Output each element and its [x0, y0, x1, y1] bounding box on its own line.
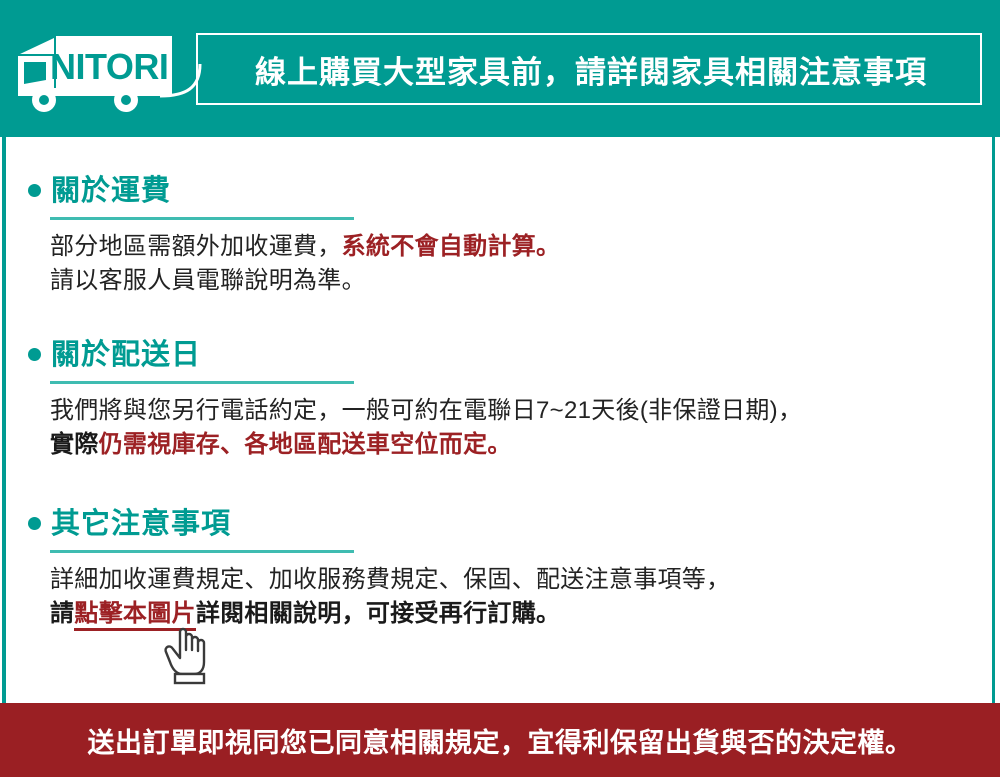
- section-body: 詳細加收運費規定、加收服務費規定、保固、配送注意事項等， 請點擊本圖片詳閱相關說…: [50, 563, 730, 631]
- body-text-bold: 實際: [50, 431, 99, 458]
- section-title: 關於配送日: [51, 331, 201, 373]
- body-line: 請點擊本圖片詳閱相關說明，可接受再行訂購。: [50, 597, 730, 631]
- body-text: 詳細加收運費規定、加收服務費規定、保固、配送注意事項等，: [50, 566, 730, 593]
- heading-underline: [50, 550, 354, 553]
- page-title: 線上購買大型家具前，請詳閱家具相關注意事項: [198, 35, 984, 103]
- section-heading: 關於配送日: [28, 331, 802, 373]
- footer-notice: 送出訂單即視同您已同意相關規定，宜得利保留出貨與否的決定權。: [88, 721, 913, 760]
- section-heading: 其它注意事項: [28, 500, 730, 542]
- heading-underline: [50, 217, 354, 220]
- body-text: 我們將與您另行電話約定，一般可約在電聯日7~21天後(非保證日期)，: [50, 397, 802, 424]
- section-title: 關於運費: [51, 167, 171, 209]
- body-text-bold: 詳閱相關說明，可接受再行訂購。: [196, 600, 561, 627]
- highlight-text: 仍需視庫存、各地區配送車空位而定。: [99, 431, 512, 458]
- body-line: 我們將與您另行電話約定，一般可約在電聯日7~21天後(非保證日期)，: [50, 394, 802, 428]
- heading-underline: [50, 381, 354, 384]
- body-line: 實際仍需視庫存、各地區配送車空位而定。: [50, 428, 802, 462]
- section-body: 我們將與您另行電話約定，一般可約在電聯日7~21天後(非保證日期)， 實際仍需視…: [50, 394, 802, 462]
- bullet-dot-icon: [28, 517, 41, 530]
- bullet-dot-icon: [28, 348, 41, 361]
- body-text: 部分地區需額外加收運費，: [50, 233, 342, 260]
- body-line: 請以客服人員電聯說明為準。: [50, 264, 560, 298]
- section-heading: 關於運費: [28, 167, 560, 209]
- banner-header: NITORI 線上購買大型家具前，請詳閱家具相關注意事項: [0, 0, 1000, 137]
- pointing-hand-cursor-icon: [158, 624, 224, 686]
- body-text: 請以客服人員電聯說明為準。: [50, 267, 366, 294]
- section-title: 其它注意事項: [51, 500, 231, 542]
- body-line: 詳細加收運費規定、加收服務費規定、保固、配送注意事項等，: [50, 563, 730, 597]
- bullet-dot-icon: [28, 184, 41, 197]
- highlight-text: 系統不會自動計算。: [342, 233, 561, 260]
- body-text-bold: 請: [50, 600, 74, 627]
- brand-name: NITORI: [50, 46, 168, 88]
- title-box: 線上購買大型家具前，請詳閱家具相關注意事項: [196, 33, 982, 105]
- section-body: 部分地區需額外加收運費，系統不會自動計算。 請以客服人員電聯說明為準。: [50, 230, 560, 298]
- section-shipping-fee: 關於運費 部分地區需額外加收運費，系統不會自動計算。 請以客服人員電聯說明為準。: [6, 167, 560, 298]
- body-line: 部分地區需額外加收運費，系統不會自動計算。: [50, 230, 560, 264]
- banner-footer: 送出訂單即視同您已同意相關規定，宜得利保留出貨與否的決定權。: [0, 703, 1000, 777]
- section-other-notes: 其它注意事項 詳細加收運費規定、加收服務費規定、保固、配送注意事項等， 請點擊本…: [6, 500, 730, 631]
- section-delivery-date: 關於配送日 我們將與您另行電話約定，一般可約在電聯日7~21天後(非保證日期)，…: [6, 331, 802, 462]
- promo-banner[interactable]: NITORI 線上購買大型家具前，請詳閱家具相關注意事項 關於運費 部分地區需額…: [0, 0, 1000, 777]
- content-panel: 關於運費 部分地區需額外加收運費，系統不會自動計算。 請以客服人員電聯說明為準。…: [2, 137, 995, 703]
